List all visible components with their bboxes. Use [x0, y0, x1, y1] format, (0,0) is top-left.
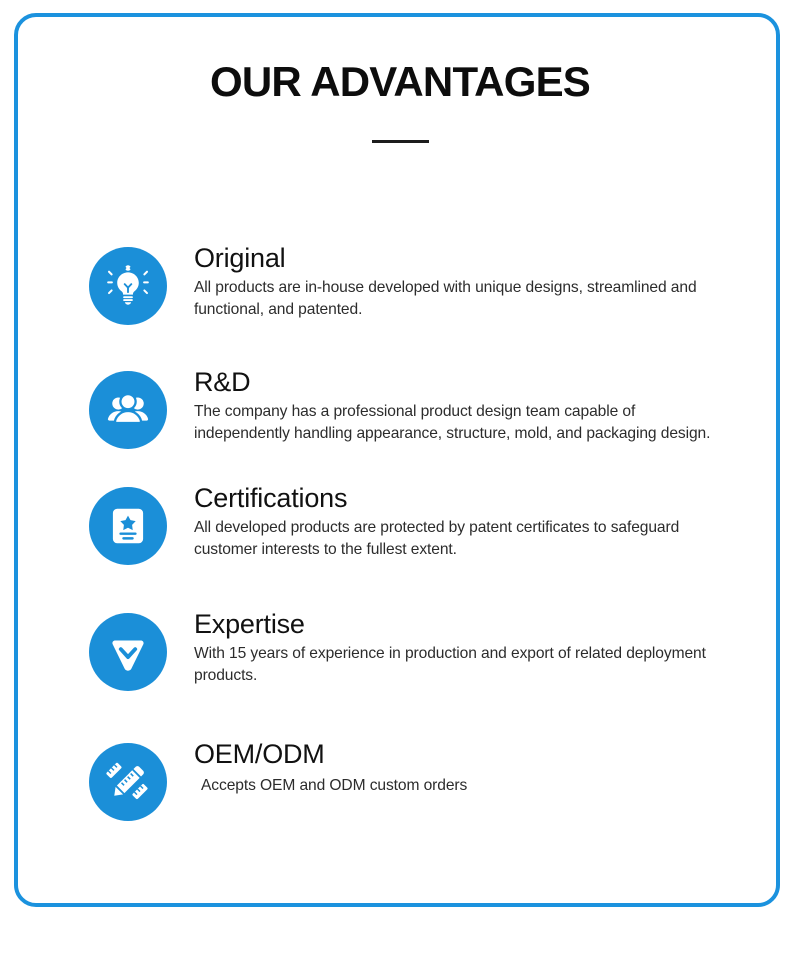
advantage-item-oem-odm: OEM/ODM Accepts OEM and ODM custom order…	[89, 739, 729, 821]
people-group-icon	[89, 371, 167, 449]
lightbulb-icon	[89, 247, 167, 325]
advantage-text-certifications: Certifications All developed products ar…	[167, 483, 729, 561]
advantage-item-expertise: Expertise With 15 years of experience in…	[89, 609, 729, 691]
diamond-icon	[89, 613, 167, 691]
advantage-title: R&D	[194, 367, 729, 397]
advantage-description: Accepts OEM and ODM custom orders	[194, 775, 729, 797]
advantage-title: Certifications	[194, 483, 729, 513]
advantage-description: All developed products are protected by …	[194, 517, 729, 561]
advantages-list: Original All products are in-house devel…	[89, 243, 729, 821]
page-header: OUR ADVANTAGES	[0, 60, 800, 143]
advantage-item-rd: R&D The company has a professional produ…	[89, 367, 729, 449]
certificate-icon	[89, 487, 167, 565]
advantage-item-original: Original All products are in-house devel…	[89, 243, 729, 325]
advantage-item-certifications: Certifications All developed products ar…	[89, 483, 729, 565]
advantage-text-original: Original All products are in-house devel…	[167, 243, 729, 321]
advantage-description: All products are in-house developed with…	[194, 277, 729, 321]
title-divider	[372, 140, 429, 143]
advantages-page: OUR ADVANTAGES	[0, 0, 800, 978]
page-title: OUR ADVANTAGES	[0, 60, 800, 104]
pencil-ruler-icon	[89, 743, 167, 821]
advantage-title: OEM/ODM	[194, 739, 729, 769]
advantage-text-oem-odm: OEM/ODM Accepts OEM and ODM custom order…	[167, 739, 729, 797]
advantage-text-rd: R&D The company has a professional produ…	[167, 367, 729, 445]
advantage-description: The company has a professional product d…	[194, 401, 729, 445]
advantage-title: Expertise	[194, 609, 729, 639]
advantage-text-expertise: Expertise With 15 years of experience in…	[167, 609, 729, 687]
advantage-title: Original	[194, 243, 729, 273]
advantage-description: With 15 years of experience in productio…	[194, 643, 729, 687]
